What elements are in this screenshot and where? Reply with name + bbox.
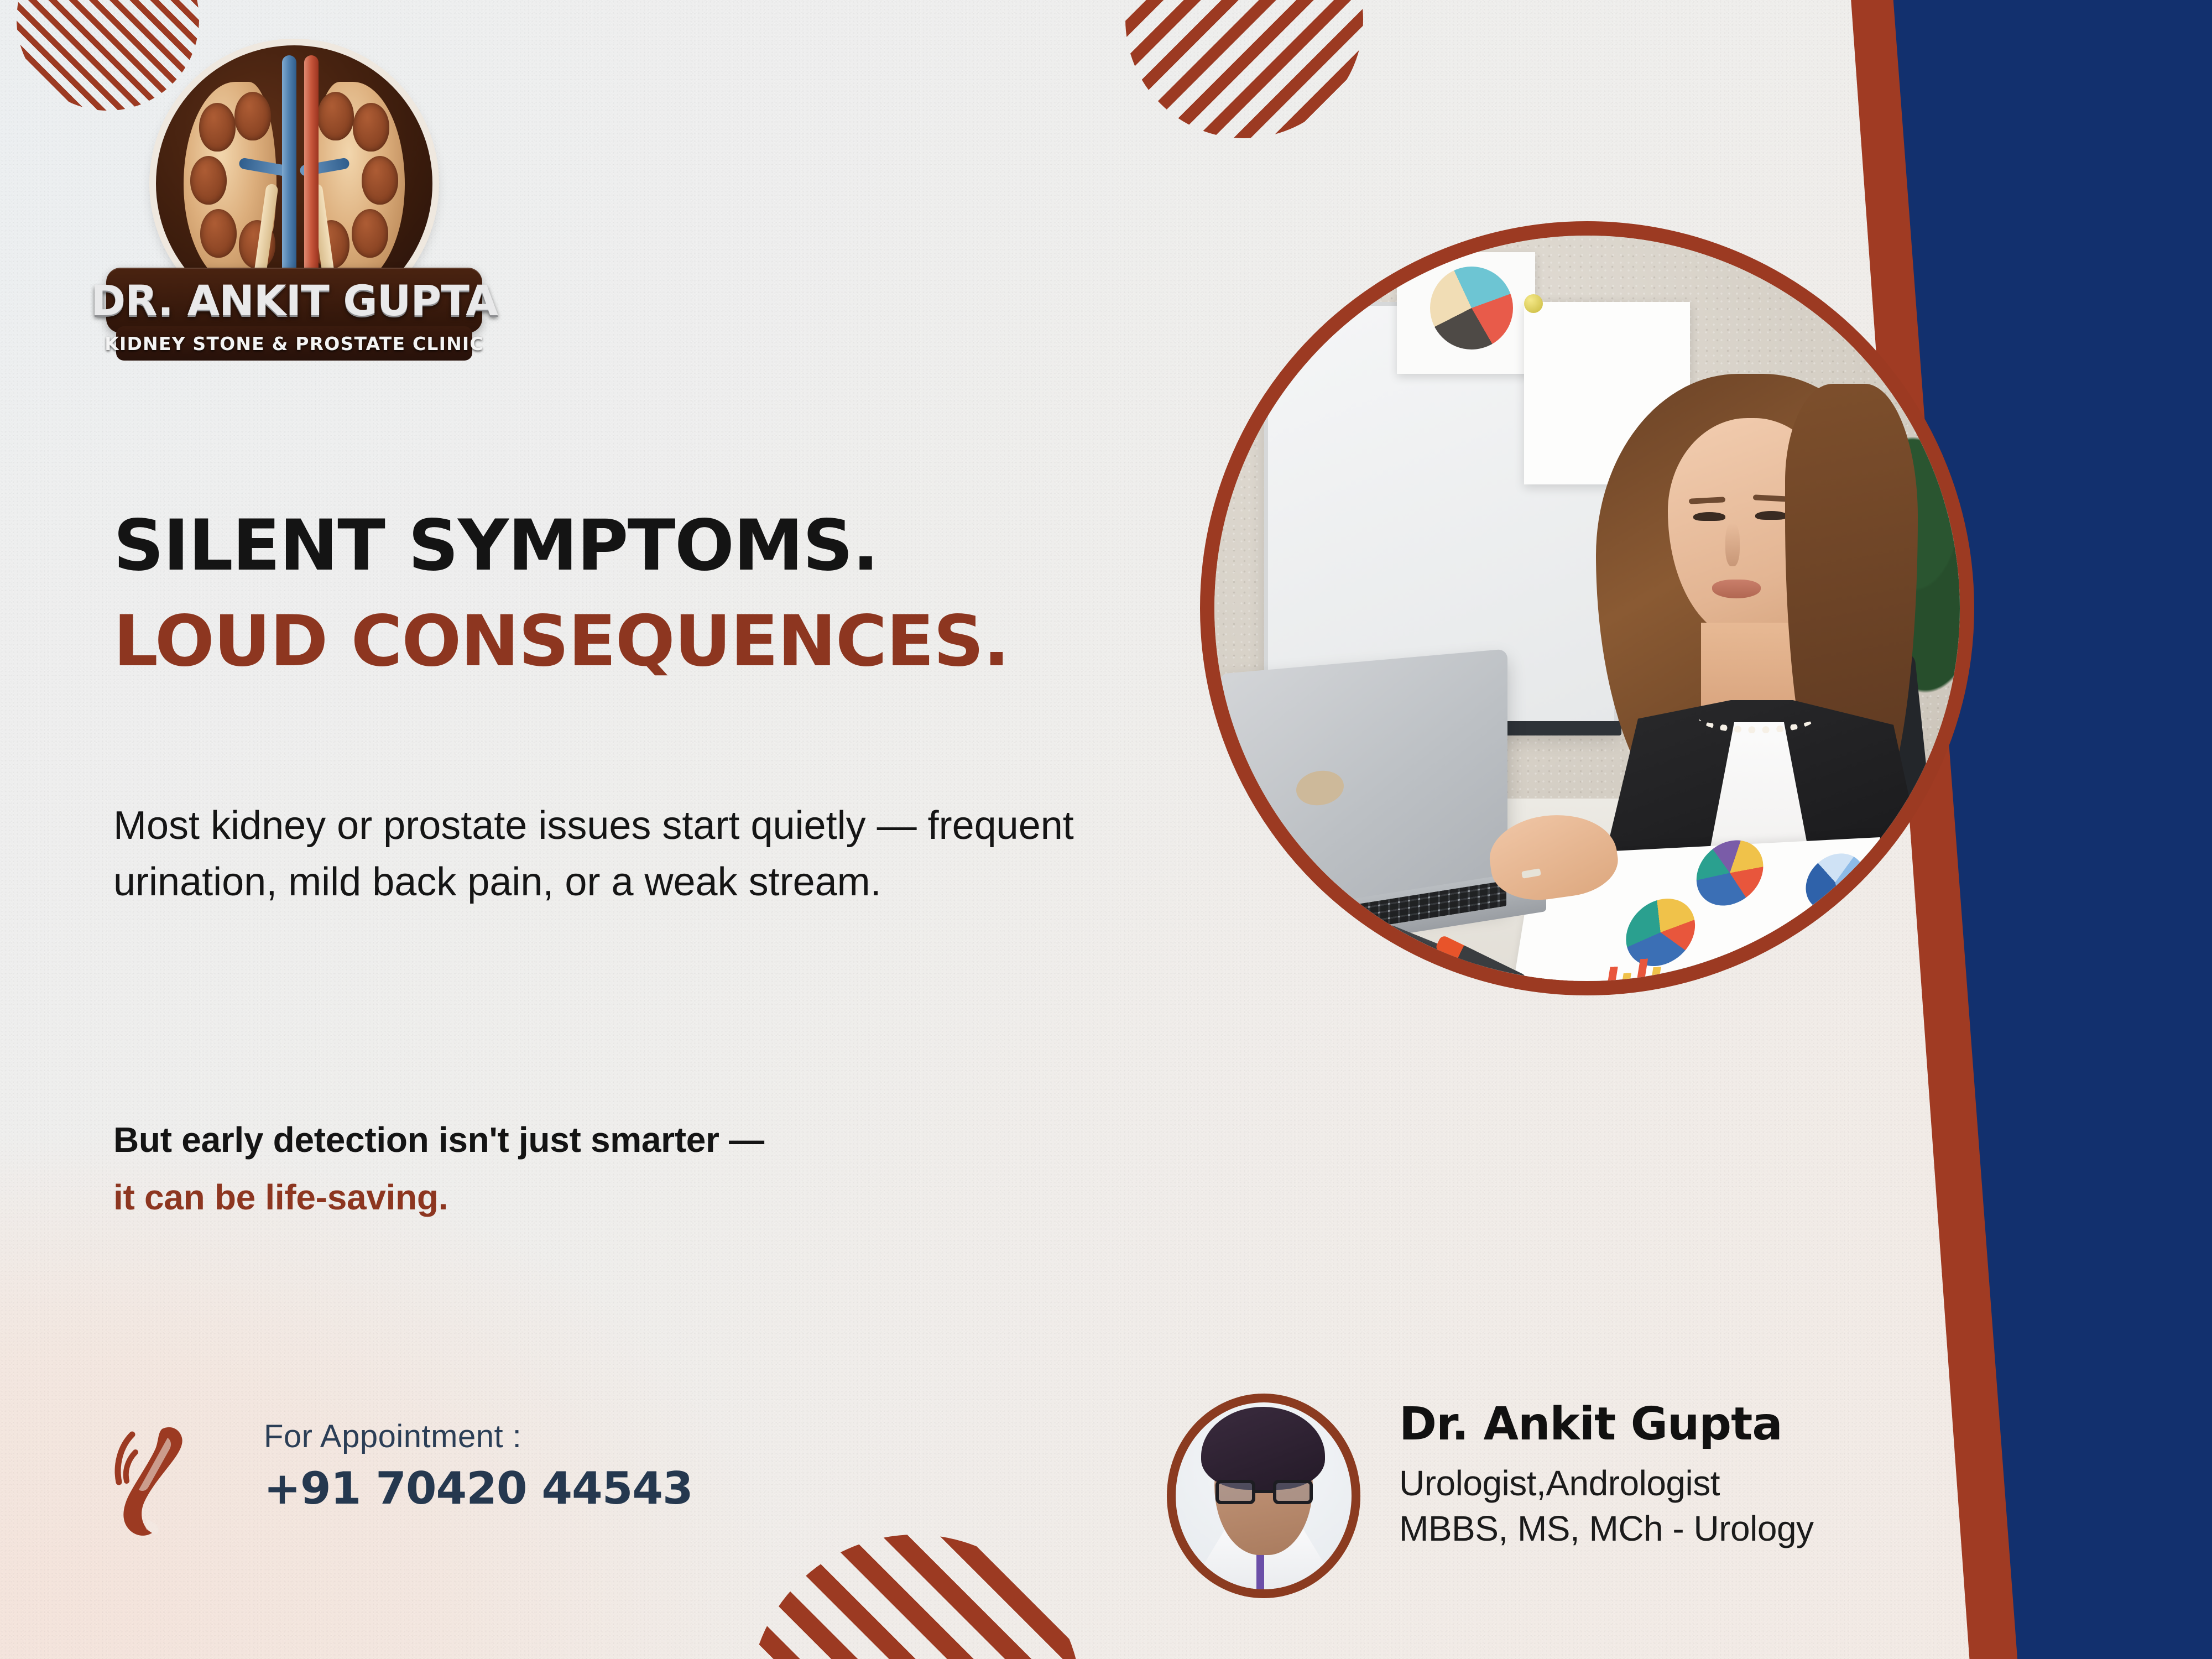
kidney-lobe (353, 103, 389, 152)
logo-tagline-plate: KIDNEY STONE & PROSTATE CLINIC (116, 326, 472, 361)
kidney-lobe (362, 156, 398, 205)
headline-block: SILENT SYMPTOMS. LOUD CONSEQUENCES. (113, 498, 1164, 688)
emphasis-line-1: But early detection isn't just smarter — (113, 1112, 1164, 1169)
appointment-label: For Appointment : (264, 1418, 693, 1455)
kidney-lobe (199, 103, 236, 152)
pie-chart-on-paper (1430, 267, 1513, 349)
headline-line-2: LOUD CONSEQUENCES. (113, 593, 1164, 689)
emphasis-block: But early detection isn't just smarter —… (113, 1112, 1164, 1226)
doctor-credential-block: Dr. Ankit Gupta Urologist,Andrologist MB… (1167, 1388, 1996, 1609)
doctor-name: Dr. Ankit Gupta (1399, 1398, 1814, 1451)
appointment-block[interactable]: For Appointment : +91 70420 44543 (113, 1405, 888, 1571)
renal-artery-red (304, 55, 319, 299)
avatar (1167, 1394, 1360, 1598)
person-eye-right (1755, 511, 1787, 520)
kidney-lobe (317, 92, 354, 140)
doctor-hair (1201, 1407, 1325, 1490)
glasses-bridge (1255, 1490, 1273, 1493)
person-lips (1712, 580, 1761, 598)
chart-pie-1 (1692, 839, 1768, 907)
poster-canvas: DR. ANKIT GUPTA KIDNEY STONE & PROSTATE … (0, 0, 2212, 1659)
person-nose (1725, 523, 1740, 566)
kidney-lobe (352, 209, 388, 258)
glasses-lens-left (1215, 1480, 1255, 1504)
logo-clinic-name: DR. ANKIT GUPTA (91, 276, 498, 325)
headline-line-1: SILENT SYMPTOMS. (113, 498, 1164, 593)
glasses-icon (1215, 1480, 1313, 1504)
hero-photo-circle (1200, 221, 1974, 995)
appointment-text: For Appointment : +91 70420 44543 (264, 1418, 693, 1514)
glasses-lens-right (1273, 1480, 1313, 1504)
doctor-info: Dr. Ankit Gupta Urologist,Andrologist MB… (1399, 1398, 1814, 1549)
pinned-paper-with-pie-chart (1397, 252, 1535, 374)
pin-magnet (1524, 294, 1543, 313)
appointment-phone-number[interactable]: +91 70420 44543 (264, 1463, 693, 1514)
kidney-lobe (190, 156, 227, 205)
chart-pie-3 (1802, 852, 1869, 912)
chart-pie-4 (1778, 910, 1848, 973)
clinic-logo[interactable]: DR. ANKIT GUPTA KIDNEY STONE & PROSTATE … (106, 45, 482, 399)
emphasis-line-2: it can be life-saving. (113, 1169, 1164, 1227)
logo-name-plate: DR. ANKIT GUPTA (106, 268, 482, 333)
phone-handset-icon (113, 1421, 241, 1543)
kidney-lobe (200, 209, 237, 258)
kidney-lobe (234, 92, 271, 140)
pearl-necklace (1699, 703, 1815, 733)
person-eye-left (1693, 512, 1725, 521)
doctor-qualifications: MBBS, MS, MCh - Urology (1399, 1508, 1814, 1549)
body-paragraph: Most kidney or prostate issues start qui… (113, 797, 1103, 910)
renal-vein-blue (282, 55, 296, 299)
logo-clinic-tagline: KIDNEY STONE & PROSTATE CLINIC (105, 333, 484, 354)
doctor-specialty: Urologist,Andrologist (1399, 1463, 1814, 1504)
